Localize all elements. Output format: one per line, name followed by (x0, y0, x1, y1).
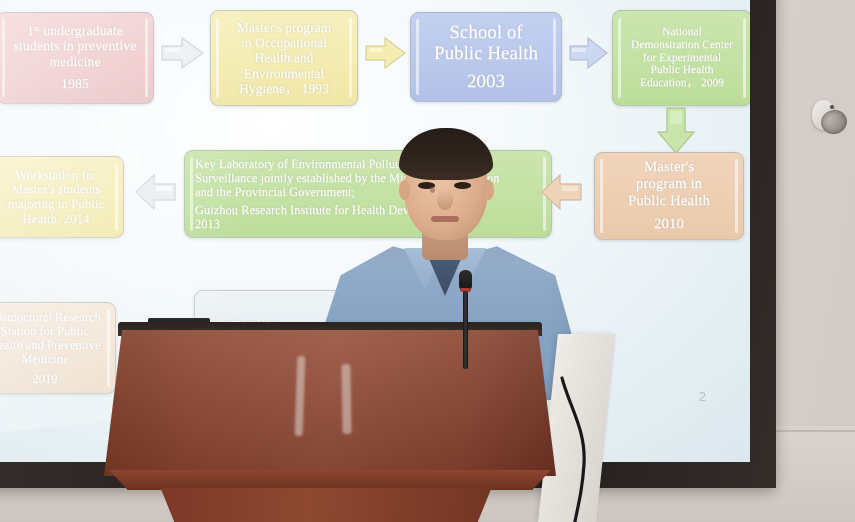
box-postdoctoral-station-2019: Postdoctoral Research Station for Public… (0, 302, 116, 394)
box-line: 1ˢᵗ undergraduate (27, 24, 123, 40)
box-line: Master's students (11, 182, 100, 197)
box-undergraduate-1985: 1ˢᵗ undergraduate students in preventive… (0, 12, 154, 104)
arrow-1985-to-1993-icon (162, 36, 204, 70)
box-line: Health, 2014 (22, 212, 89, 227)
box-line: Master's program (237, 20, 331, 35)
arrow-2013-to-2014-icon (134, 172, 176, 212)
box-line: medicine (49, 55, 100, 71)
box-line: National (662, 26, 702, 39)
box-line: School of (449, 22, 522, 43)
box-year: 2019 (33, 372, 58, 386)
box-line: Education， 2009 (640, 77, 724, 90)
arrow-1993-to-2003-icon (366, 36, 406, 70)
box-line: 2013 (195, 217, 220, 231)
box-line: Public Health (628, 193, 710, 210)
box-school-public-health-2003: School of Public Health 2003 (410, 12, 562, 102)
box-line: Workstation for (15, 168, 97, 183)
box-line: for Experimental (643, 52, 721, 65)
box-year: 2003 (467, 71, 505, 92)
box-line: Master's (644, 159, 694, 176)
box-line: Hygiene， 1993 (239, 81, 329, 96)
box-line: Postdoctoral Research (0, 310, 101, 324)
box-national-demo-center-2009: National Demonstration Center for Experi… (612, 10, 750, 106)
arrow-2003-to-2009-icon (570, 36, 608, 70)
box-masters-public-health-2010: Master's program in Public Health 2010 (594, 152, 744, 240)
box-line: in Occupational (241, 35, 327, 50)
box-occupational-health-1993: Master's program in Occupational Health … (210, 10, 358, 106)
box-workstation-masters-2014: Workstation for Master's students majori… (0, 156, 124, 238)
microphone-icon (455, 270, 477, 365)
motion-sensor-icon (812, 96, 846, 138)
box-line: Health and (255, 50, 314, 65)
box-line: Environmental (244, 66, 324, 81)
podium-lectern (104, 322, 556, 522)
box-line: program in (636, 176, 702, 193)
box-line: Medicine (21, 352, 68, 366)
conference-room-photo: 1ˢᵗ undergraduate students in preventive… (0, 0, 855, 522)
box-line: majoring in Public (8, 197, 105, 212)
box-line: Health and Preventive (0, 338, 101, 352)
box-year: 1985 (61, 77, 89, 93)
power-cable (560, 378, 600, 522)
box-line: Public Health (434, 43, 538, 64)
box-line: students in preventive (14, 39, 137, 55)
box-year: 2010 (654, 216, 684, 233)
box-line: Demonstration Center (631, 39, 733, 52)
slide-number: 2 (699, 389, 706, 404)
box-line: Public Health (651, 64, 714, 77)
box-line: Station for Public (1, 324, 89, 338)
arrow-2009-to-2010-icon (656, 108, 696, 154)
